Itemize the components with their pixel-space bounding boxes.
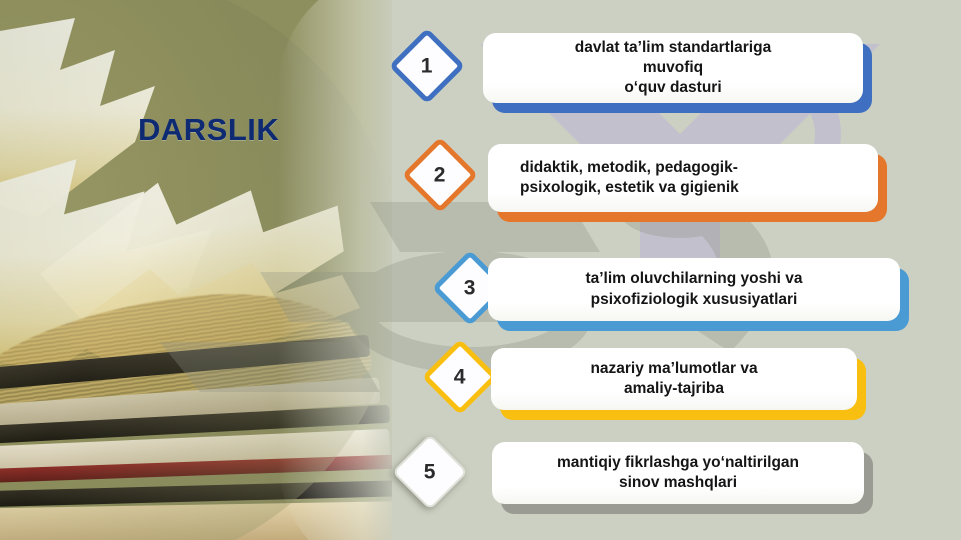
step-card-2[interactable]: didaktik, metodik, pedagogik- psixologik… xyxy=(488,144,878,212)
step-number-badge-1[interactable]: 1 xyxy=(389,28,465,104)
step-card-wrap-2: didaktik, metodik, pedagogik- psixologik… xyxy=(488,144,878,212)
step-card-text: nazariy ma’lumotlar va amaliy-tajriba xyxy=(590,359,757,399)
step-card-4[interactable]: nazariy ma’lumotlar va amaliy-tajriba xyxy=(491,348,857,410)
step-card-text: davlat ta’lim standartlariga muvofiq o‘q… xyxy=(575,38,771,98)
step-number-label: 4 xyxy=(454,367,466,388)
step-number-label: 5 xyxy=(424,462,436,483)
step-number-label: 1 xyxy=(421,56,433,77)
panel-right-edge-highlight xyxy=(278,0,392,540)
step-card-5[interactable]: mantiqiy fikrlashga yo‘naltirilgan sinov… xyxy=(492,442,864,504)
step-card-text: mantiqiy fikrlashga yo‘naltirilgan sinov… xyxy=(557,453,799,493)
step-card-text: didaktik, metodik, pedagogik- psixologik… xyxy=(502,158,864,198)
step-number-label: 3 xyxy=(464,278,476,299)
step-card-wrap-5: mantiqiy fikrlashga yo‘naltirilgan sinov… xyxy=(492,442,864,504)
page-title: DARSLIK xyxy=(138,112,279,148)
step-number-label: 2 xyxy=(434,165,446,186)
step-number-badge-2[interactable]: 2 xyxy=(402,137,478,213)
slide-canvas: DARSLIK 1 davlat ta’lim standartlariga m… xyxy=(0,0,961,540)
step-card-text: ta’lim oluvchilarning yoshi va psixofizi… xyxy=(585,269,802,309)
step-card-wrap-4: nazariy ma’lumotlar va amaliy-tajriba xyxy=(491,348,857,410)
step-card-wrap-3: ta’lim oluvchilarning yoshi va psixofizi… xyxy=(488,258,900,321)
step-card-wrap-1: davlat ta’lim standartlariga muvofiq o‘q… xyxy=(483,33,863,103)
step-card-1[interactable]: davlat ta’lim standartlariga muvofiq o‘q… xyxy=(483,33,863,103)
step-number-badge-4[interactable]: 4 xyxy=(422,339,498,415)
books-photo-panel xyxy=(0,0,392,540)
step-number-badge-5[interactable]: 5 xyxy=(392,434,468,510)
step-card-3[interactable]: ta’lim oluvchilarning yoshi va psixofizi… xyxy=(488,258,900,321)
